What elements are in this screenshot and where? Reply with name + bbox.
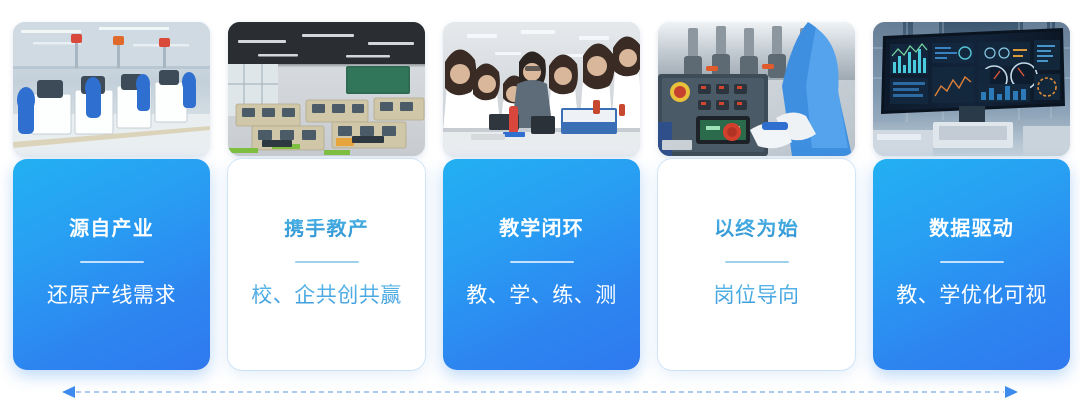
- card-text-panel: 教学闭环 教、学、练、测: [443, 159, 640, 370]
- card-text-panel: 源自产业 还原产线需求: [13, 159, 210, 370]
- students-lab-instruction-photo: [443, 22, 640, 156]
- card-title: 数据驱动: [929, 219, 1014, 239]
- dashed-arrow-svg: [62, 385, 1018, 399]
- card-photo-0: [13, 22, 210, 156]
- card-subtitle: 教、学、练、测: [466, 284, 617, 307]
- card-subtitle: 还原产线需求: [47, 284, 176, 307]
- card-photo-4: [873, 22, 1070, 156]
- electronics-assembly-line-photo: [13, 22, 210, 156]
- bidirectional-dashed-arrow: [62, 385, 1018, 399]
- machine-operator-control-panel-photo: [658, 22, 855, 156]
- feature-card[interactable]: 以终为始 岗位导向: [658, 22, 855, 370]
- feature-card[interactable]: 教学闭环 教、学、练、测: [443, 22, 640, 370]
- card-divider: [80, 261, 144, 263]
- feature-cards-row: 源自产业 还原产线需求: [13, 22, 1067, 370]
- card-text-panel: 数据驱动 教、学优化可视: [873, 159, 1070, 370]
- card-text-panel: 携手教产 校、企共创共赢: [228, 159, 425, 370]
- card-subtitle: 教、学优化可视: [896, 284, 1047, 307]
- right-arrow-head-icon: [1005, 386, 1018, 398]
- card-photo-3: [658, 22, 855, 156]
- feature-card[interactable]: 携手教产 校、企共创共赢: [228, 22, 425, 370]
- card-title: 源自产业: [69, 219, 154, 239]
- card-divider: [940, 261, 1004, 263]
- card-divider: [725, 261, 789, 263]
- card-subtitle: 岗位导向: [714, 284, 800, 307]
- card-divider: [510, 261, 574, 263]
- card-divider: [295, 261, 359, 263]
- left-arrow-head-icon: [62, 386, 75, 398]
- card-photo-2: [443, 22, 640, 156]
- feature-card[interactable]: 源自产业 还原产线需求: [13, 22, 210, 370]
- card-title: 教学闭环: [499, 219, 584, 239]
- card-photo-1: [228, 22, 425, 156]
- card-text-panel: 以终为始 岗位导向: [658, 159, 855, 370]
- feature-card[interactable]: 数据驱动 教、学优化可视: [873, 22, 1070, 370]
- data-dashboard-screen-photo: [873, 22, 1070, 156]
- training-classroom-photo: [228, 22, 425, 156]
- card-title: 以终为始: [714, 219, 799, 239]
- card-title: 携手教产: [284, 219, 369, 239]
- card-subtitle: 校、企共创共赢: [251, 284, 402, 307]
- feature-strip-page: 源自产业 还原产线需求: [0, 0, 1080, 408]
